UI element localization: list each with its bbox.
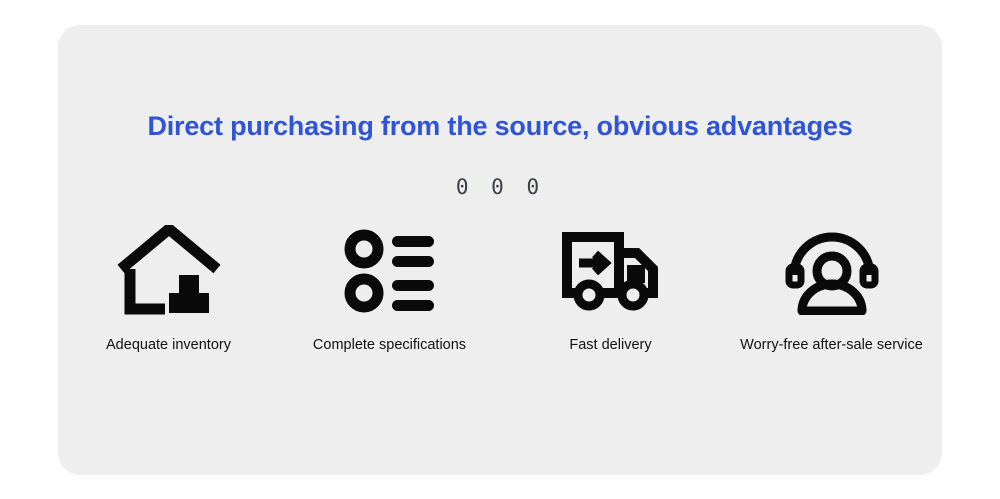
warehouse-icon bbox=[114, 225, 224, 317]
promo-banner-stage: Direct purchasing from the source, obvio… bbox=[0, 0, 1000, 499]
feature-label: Worry-free after-sale service bbox=[740, 337, 923, 353]
delivery-truck-icon bbox=[556, 225, 666, 317]
feature-item-delivery: Fast delivery bbox=[500, 225, 721, 353]
customer-service-headset-icon bbox=[777, 225, 887, 317]
feature-item-inventory: Adequate inventory bbox=[58, 225, 279, 353]
feature-item-after-sale-service: Worry-free after-sale service bbox=[721, 225, 942, 353]
feature-label: Complete specifications bbox=[313, 337, 466, 353]
feature-label: Fast delivery bbox=[569, 337, 651, 353]
feature-item-specifications: Complete specifications bbox=[279, 225, 500, 353]
feature-label: Adequate inventory bbox=[106, 337, 231, 353]
feature-list: Adequate inventory Complete specificatio… bbox=[58, 225, 942, 353]
specification-list-icon bbox=[335, 225, 445, 317]
promo-card: Direct purchasing from the source, obvio… bbox=[58, 25, 942, 475]
divider-glyphs: 0 0 0 bbox=[58, 175, 942, 199]
page-title: Direct purchasing from the source, obvio… bbox=[58, 111, 942, 142]
